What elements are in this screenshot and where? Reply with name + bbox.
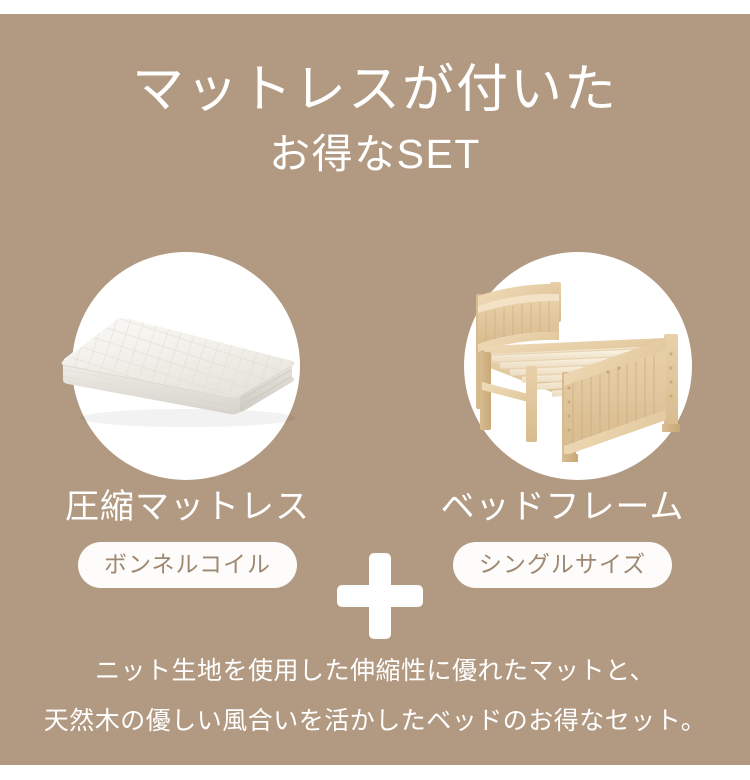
promo-banner: マットレスが付いた お得なSET: [0, 0, 750, 780]
product-caption-mattress: 圧縮マットレス ボンネルコイル: [0, 486, 375, 588]
description-line-2: 天然木の優しい風合いを活かしたベッドのお得なセット。: [0, 696, 750, 746]
description-line-1: ニット生地を使用した伸縮性に優れたマットと、: [0, 646, 750, 696]
banner-panel: マットレスが付いた お得なSET: [0, 14, 750, 765]
compressed-mattress-photo: [60, 306, 320, 436]
product-title-bedframe: ベッドフレーム: [375, 486, 750, 528]
description: ニット生地を使用した伸縮性に優れたマットと、 天然木の優しい風合いを活かしたベッ…: [0, 646, 750, 746]
headline: マットレスが付いた お得なSET: [0, 60, 750, 178]
wooden-bed-frame-photo: [458, 262, 708, 472]
product-badge-bedframe: シングルサイズ: [453, 542, 672, 588]
product-title-mattress: 圧縮マットレス: [0, 486, 375, 528]
product-images: [0, 246, 750, 486]
product-caption-bedframe: ベッドフレーム シングルサイズ: [375, 486, 750, 588]
headline-line-2: お得なSET: [0, 130, 750, 178]
product-badge-mattress: ボンネルコイル: [78, 542, 297, 588]
headline-line-1: マットレスが付いた: [0, 60, 750, 120]
